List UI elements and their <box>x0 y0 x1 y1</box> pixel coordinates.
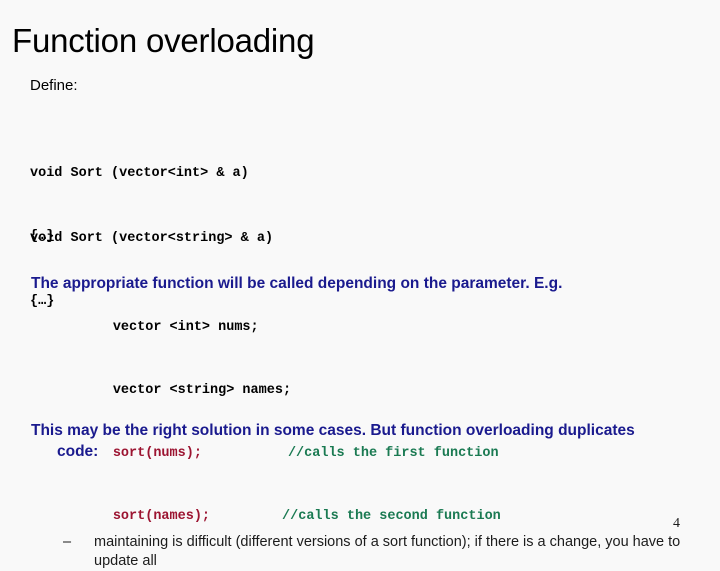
code-line-signature: void Sort (vector<int> & a) <box>30 163 249 184</box>
code-comment: //calls the second function <box>210 509 501 524</box>
code-statement: vector <string> names; <box>113 383 291 398</box>
duplicates-heading-line2: code: <box>31 441 691 462</box>
list-item-label: maintaining is difficult (different vers… <box>63 533 688 571</box>
code-row: vector <string> names; <box>48 359 501 422</box>
code-row: vector <int> nums; <box>48 296 501 359</box>
dash-bullet-icon: – <box>63 533 83 552</box>
page-number: 4 <box>673 516 680 532</box>
list-item: – maintaining is difficult (different ve… <box>63 533 688 571</box>
page-title: Function overloading <box>12 22 314 60</box>
slide: Function overloading Define: void Sort (… <box>0 0 720 540</box>
code-statement: sort(names); <box>113 509 210 524</box>
example-heading: The appropriate function will be called … <box>31 273 691 294</box>
duplicates-heading: This may be the right solution in some c… <box>31 420 691 462</box>
define-label: Define: <box>30 76 78 96</box>
code-statement: vector <int> nums; <box>113 320 259 335</box>
duplicates-heading-line1: This may be the right solution in some c… <box>31 420 691 441</box>
code-line-signature: void Sort (vector<string> & a) <box>30 228 273 249</box>
